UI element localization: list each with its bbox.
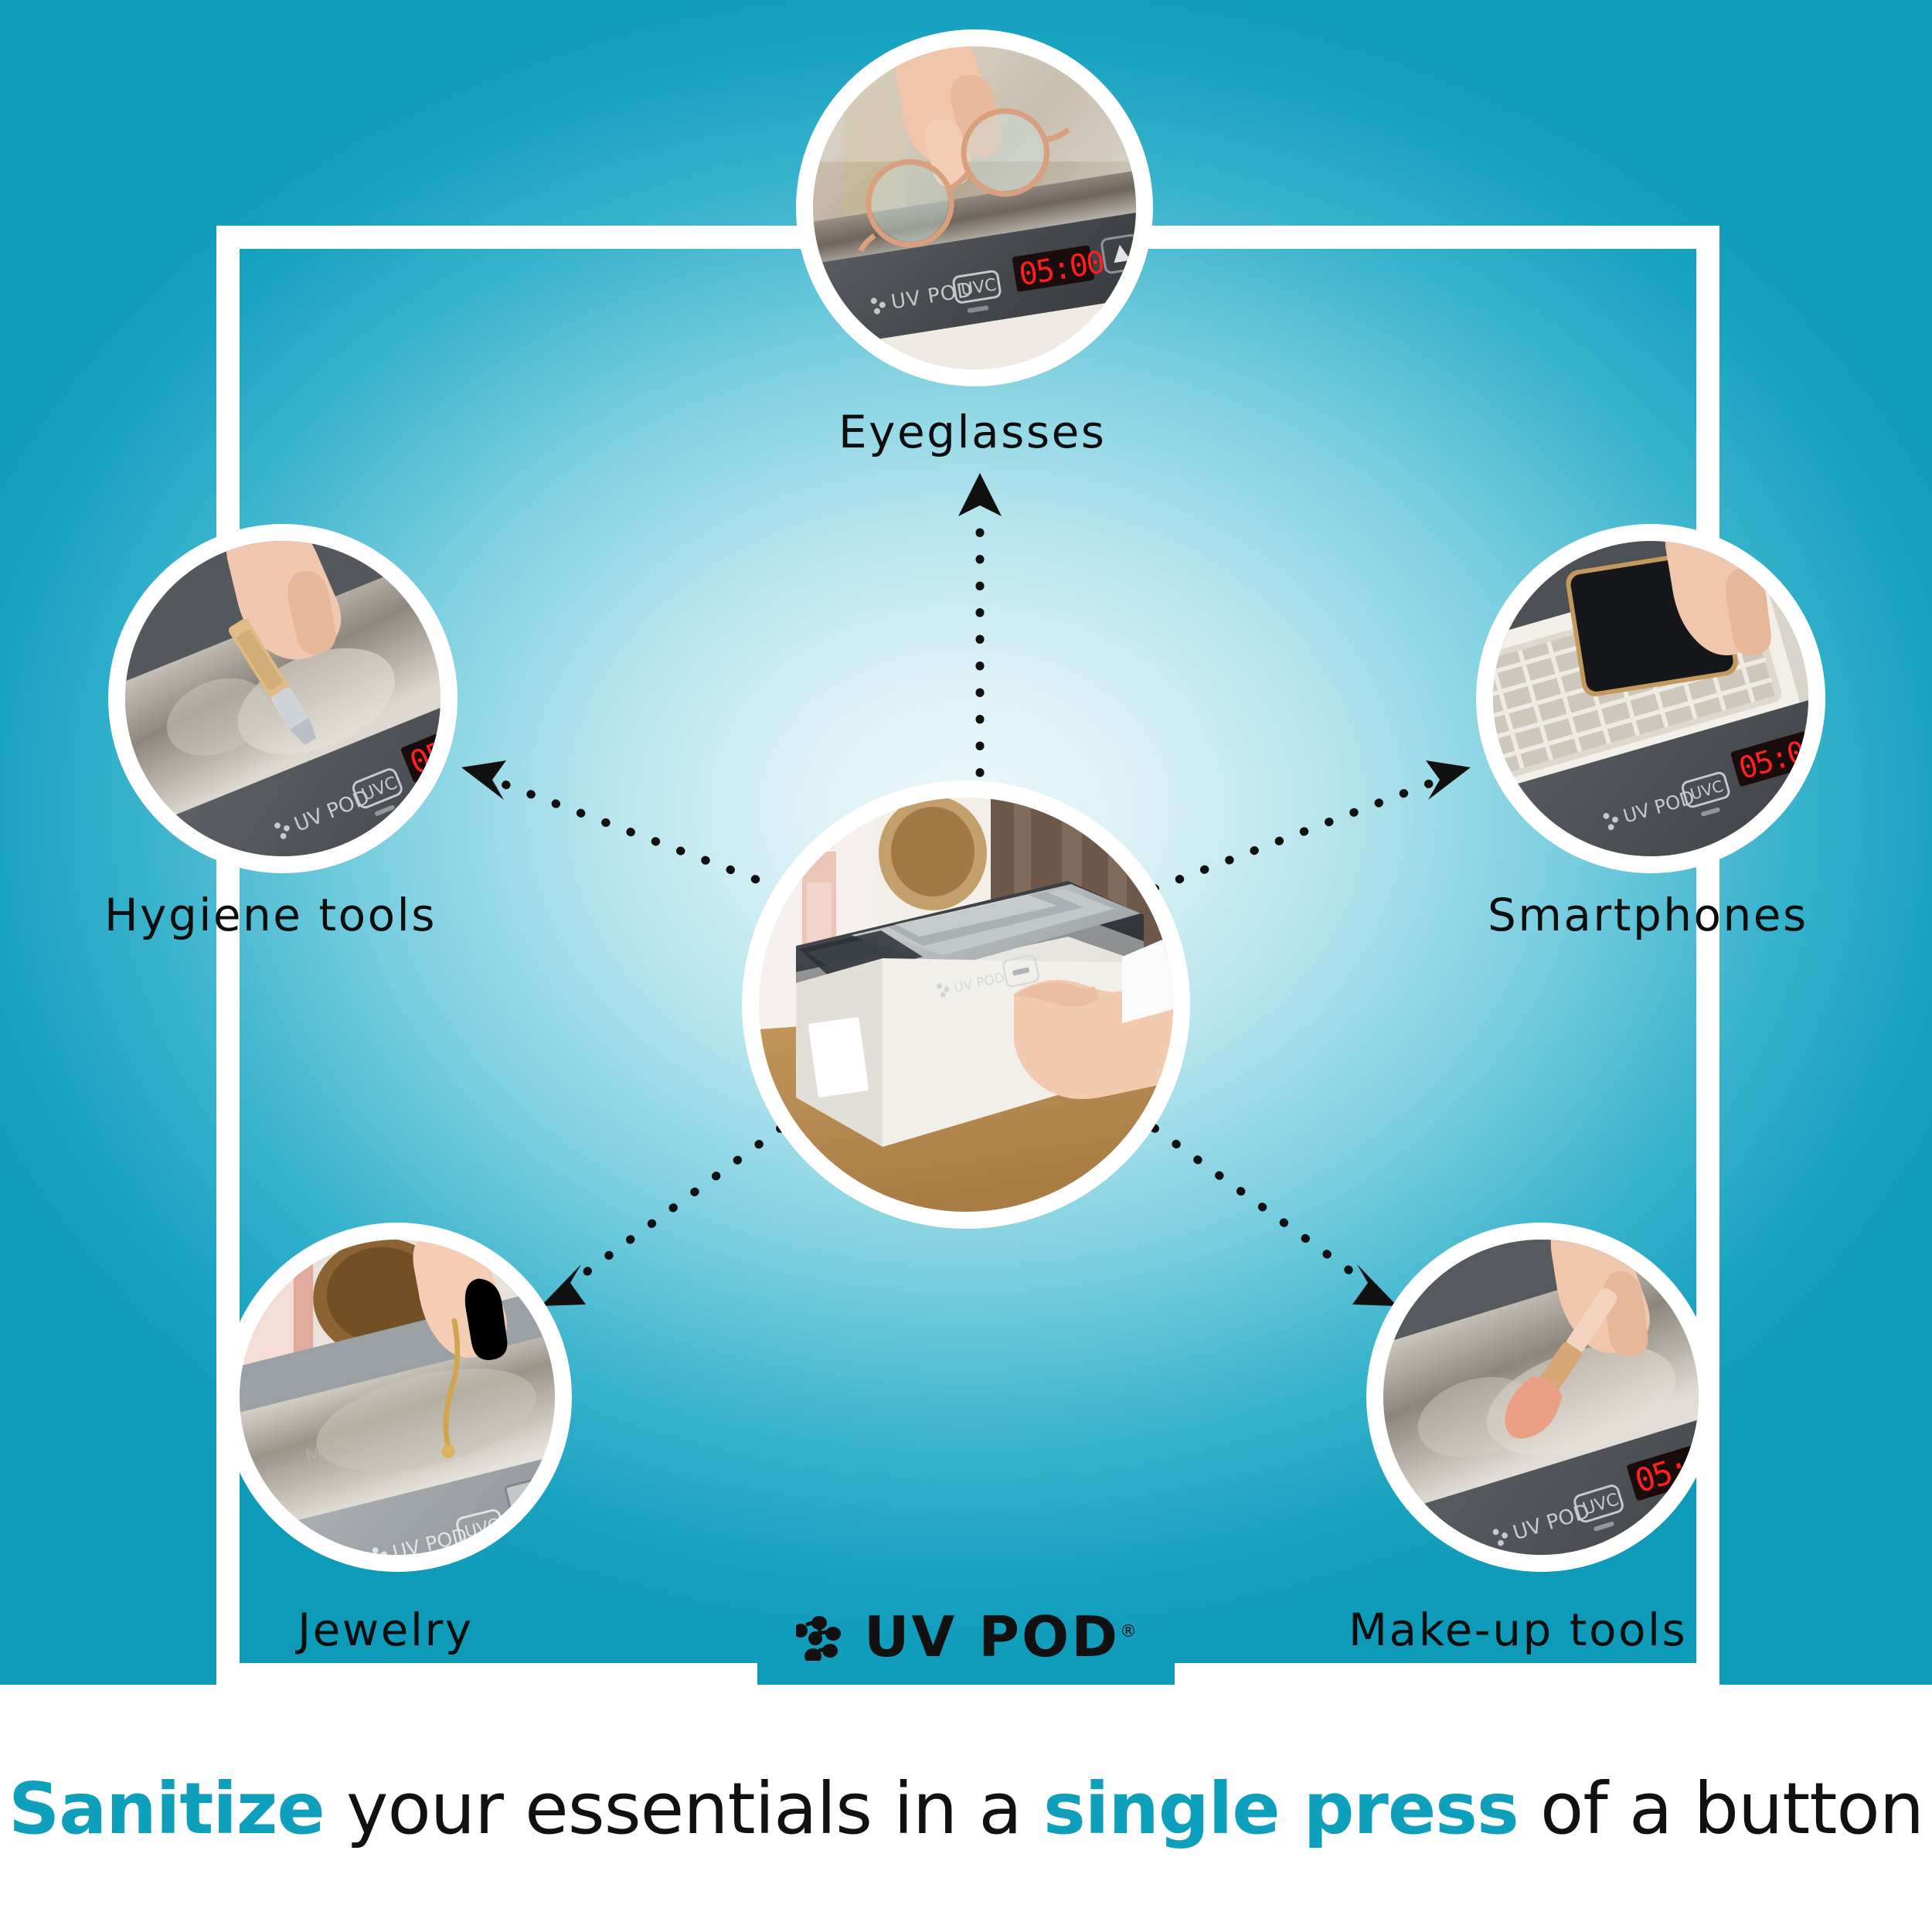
photo-jewelry: MAX UV POD UVC <box>240 1240 555 1555</box>
photo-bubble-eyeglasses[interactable]: UV POD UVC 05:00 <box>796 29 1153 386</box>
photo-hygiene-tools: UV POD UVC 05:00 <box>125 541 440 856</box>
label-jewelry: Jewelry <box>298 1604 474 1656</box>
photo-bubble-hygiene-tools[interactable]: UV POD UVC 05:00 <box>108 524 457 873</box>
photo-smartphones: UV POD UVC 05:00 <box>1493 541 1808 856</box>
photo-eyeglasses: UV POD UVC 05:00 <box>813 46 1136 369</box>
tagline-bar: Sanitize your essentials in a single pre… <box>0 1685 1932 1932</box>
photo-bubble-make-up-tools[interactable]: UV POD UVC 05:00 <box>1366 1223 1716 1572</box>
decorative-frame-bottom-right <box>1175 1663 1719 1686</box>
label-eyeglasses: Eyeglasses <box>838 406 1106 458</box>
tagline-highlight-1: Sanitize <box>9 1767 325 1850</box>
photo-make-up-tools: UV POD UVC 05:00 <box>1383 1240 1699 1555</box>
tagline-plain-1: your essentials in a <box>325 1767 1043 1850</box>
brand-wordmark: UV POD® <box>864 1609 1137 1665</box>
label-hygiene-tools: Hygiene tools <box>104 889 437 941</box>
brand-logo: UV POD® <box>796 1609 1137 1665</box>
tagline-text: Sanitize your essentials in a single pre… <box>9 1767 1923 1850</box>
photo-bubble-smartphones[interactable]: UV POD UVC 05:00 <box>1476 524 1825 873</box>
registered-trademark-symbol: ® <box>1120 1622 1137 1641</box>
label-smartphones: Smartphones <box>1488 889 1808 941</box>
tagline-highlight-2: single press <box>1043 1767 1519 1850</box>
photo-device-hero: UV POD <box>759 798 1173 1212</box>
label-make-up-tools: Make-up tools <box>1349 1604 1687 1656</box>
photo-bubble-jewelry[interactable]: MAX UV POD UVC <box>223 1223 572 1572</box>
tagline-plain-2: of a button <box>1519 1767 1923 1850</box>
decorative-frame-bottom-left <box>216 1663 757 1686</box>
photo-bubble-device-hero[interactable]: UV POD <box>742 781 1190 1229</box>
infographic-canvas: .dot{stroke:#111;stroke-width:11;stroke-… <box>0 0 1932 1932</box>
germ-molecule-icon <box>796 1613 850 1661</box>
